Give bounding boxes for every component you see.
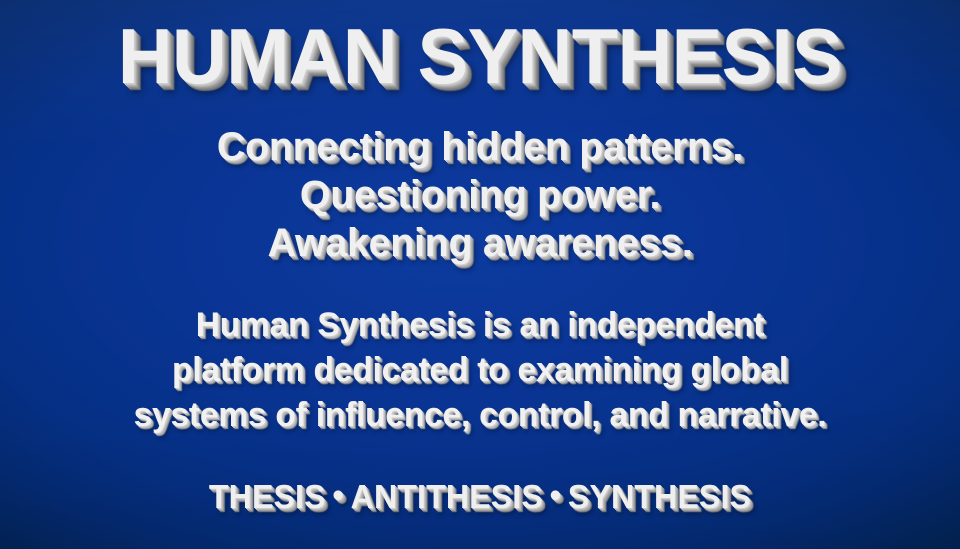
description-block: Human Synthesis is an independent platfo…	[0, 303, 960, 438]
motto-synthesis: SYNTHESIS	[568, 478, 751, 515]
bullet-separator-icon: •	[326, 478, 351, 511]
footer-motto: THESIS•ANTITHESIS•SYNTHESIS	[14, 480, 945, 513]
motto-thesis: THESIS	[209, 478, 326, 515]
tagline-block: Connecting hidden patterns. Questioning …	[0, 123, 960, 267]
bullet-separator-icon: •	[543, 478, 568, 511]
description-line-2: platform dedicated to examining global	[7, 348, 953, 393]
description-line-1: Human Synthesis is an independent	[7, 303, 953, 348]
tagline-line-2: Questioning power.	[7, 171, 953, 219]
description-line-3: systems of influence, control, and narra…	[7, 393, 953, 438]
tagline-line-1: Connecting hidden patterns.	[7, 123, 953, 171]
tagline-line-3: Awakening awareness.	[7, 219, 953, 267]
motto-antithesis: ANTITHESIS	[351, 478, 543, 515]
content-stack: HUMAN SYNTHESIS Connecting hidden patter…	[0, 0, 960, 513]
page-title: HUMAN SYNTHESIS	[14, 17, 945, 95]
poster-canvas: HUMAN SYNTHESIS Connecting hidden patter…	[0, 0, 960, 549]
